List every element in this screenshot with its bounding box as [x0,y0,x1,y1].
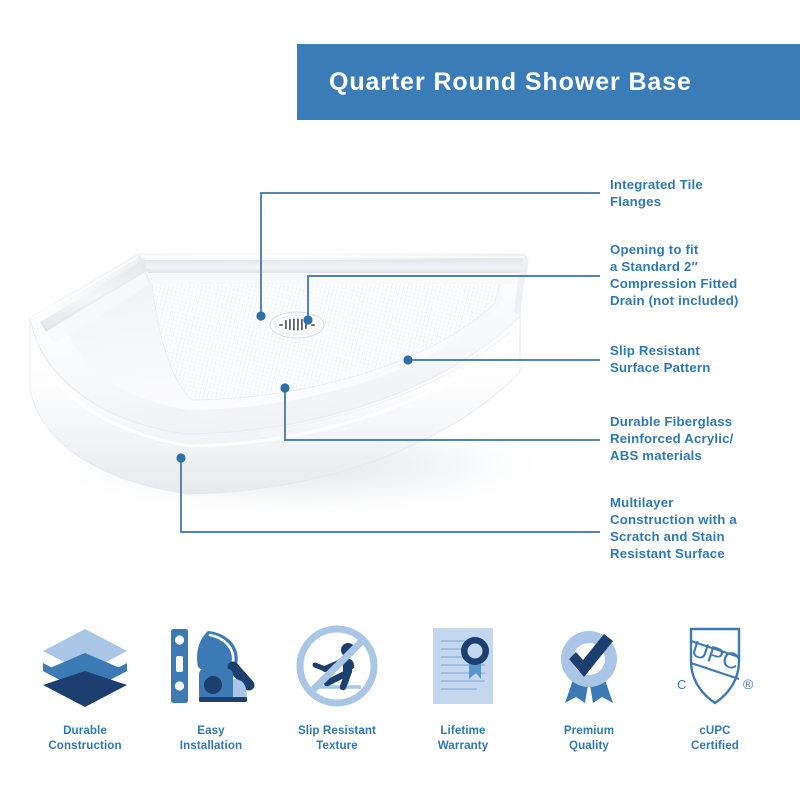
page-title: Quarter Round Shower Base [329,68,692,97]
leader-dot-integrated-tile-flanges [256,311,265,320]
award-ribbon-icon [543,618,635,714]
feature-durable-construction: Durable Construction [26,618,144,788]
feature-easy-installation: Easy Installation [152,618,270,788]
no-slip-icon [291,618,383,714]
feature-label-easy-installation: Easy Installation [180,723,242,753]
upc-shield-right-mark: ® [743,676,754,692]
level-trowel-icon [165,618,257,714]
leader-dot-drain-opening [303,315,312,324]
upc-shield-text: UPC [689,635,743,675]
feature-lifetime-warranty: Lifetime Warranty [404,618,522,788]
feature-slip-resistant: Slip Resistant Texture [278,618,396,788]
leader-drain-opening [308,276,600,320]
leader-durable-fiberglass [285,388,600,440]
infographic-page: Quarter Round Shower Base [0,0,800,800]
page-title-banner: Quarter Round Shower Base [297,44,800,120]
callout-label-slip-resistant-surface-pattern: Slip Resistant Surface Pattern [610,342,710,376]
feature-label-slip-resistant: Slip Resistant Texture [298,723,376,753]
feature-premium-quality: Premium Quality [530,618,648,788]
callout-label-multilayer-construction: Multilayer Construction with a Scratch a… [610,494,737,562]
feature-label-cupc-certified: cUPC Certified [691,723,739,753]
product-hero: Integrated Tile Flanges Opening to fit a… [0,120,800,610]
leader-integrated-tile-flanges [261,193,600,316]
leader-dot-slip-resistant [403,355,412,364]
certificate-icon [417,618,509,714]
callout-label-drain-opening: Opening to fit a Standard 2″ Compression… [610,241,739,309]
feature-cupc-certified: UPC C ® cUPC Certified [656,618,774,788]
leader-multilayer [181,458,600,532]
leader-dot-multilayer [176,453,185,462]
callout-label-integrated-tile-flanges: Integrated Tile Flanges [610,176,703,210]
leader-dot-durable-fiberglass [280,383,289,392]
callout-label-durable-fiberglass-materials: Durable Fiberglass Reinforced Acrylic/ A… [610,413,734,464]
layers-icon [39,618,131,714]
feature-badge-strip: Durable Construction [0,618,800,788]
feature-label-lifetime-warranty: Lifetime Warranty [438,723,489,753]
feature-label-durable-construction: Durable Construction [48,723,121,753]
upc-shield-icon: UPC C ® [669,618,761,714]
feature-label-premium-quality: Premium Quality [564,723,614,753]
upc-shield-left-mark: C [677,677,686,692]
